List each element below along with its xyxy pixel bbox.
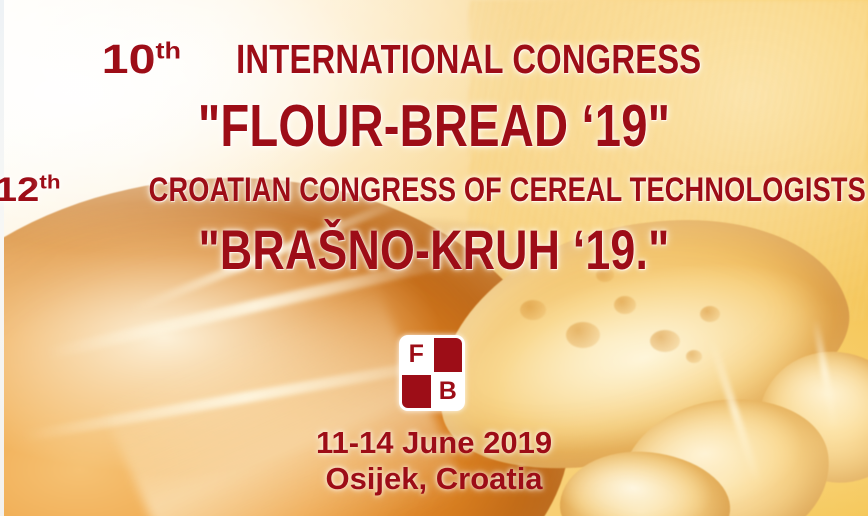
logo-block-bottom-left bbox=[402, 375, 431, 409]
ordinal-suffix: th bbox=[39, 173, 60, 194]
logo-block-top-right bbox=[434, 338, 463, 372]
title-line-brasno-kruh: "BRAŠNO-KRUH ‘19." bbox=[87, 219, 781, 281]
ordinal-12th: 12th bbox=[0, 171, 64, 209]
logo-letter-f: F bbox=[402, 338, 431, 372]
logo-quadrant-grid: F B bbox=[402, 338, 462, 408]
ordinal-suffix: th bbox=[156, 37, 182, 63]
title-line-croatian-congress: 12thCROATIAN CONGRESS OF CEREAL TECHNOLO… bbox=[0, 171, 868, 209]
event-dates: 11-14 June 2019 bbox=[0, 425, 868, 461]
title-line-international-congress: 10thINTERNATIONAL CONGRESS bbox=[0, 36, 868, 82]
ordinal-10th: 10th bbox=[102, 36, 185, 82]
flour-bread-logo: F B bbox=[399, 335, 465, 411]
ordinal-number: 10 bbox=[102, 36, 156, 82]
ordinal-number: 12 bbox=[0, 171, 39, 209]
banner-text-layer: 10thINTERNATIONAL CONGRESS "FLOUR-BREAD … bbox=[0, 0, 868, 516]
logo-letter-b: B bbox=[434, 375, 463, 409]
congress-banner: 10thINTERNATIONAL CONGRESS "FLOUR-BREAD … bbox=[0, 0, 868, 516]
title-line-1-text: INTERNATIONAL CONGRESS bbox=[237, 36, 702, 82]
title-line-flour-bread: "FLOUR-BREAD ‘19" bbox=[87, 93, 781, 159]
event-location: Osijek, Croatia bbox=[0, 461, 868, 497]
title-line-3-text: CROATIAN CONGRESS OF CEREAL TECHNOLOGIST… bbox=[148, 171, 865, 209]
